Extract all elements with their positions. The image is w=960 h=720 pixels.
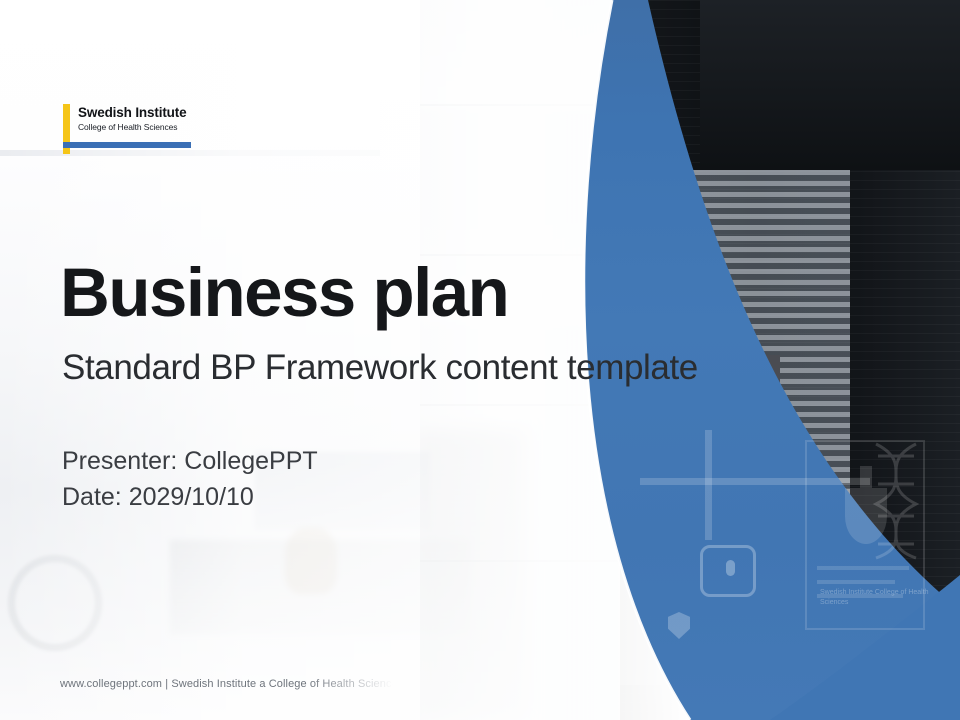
presentation-slide: Admission: [0, 0, 960, 720]
logo-blue-bar-icon: [63, 142, 191, 148]
slide-title: Business plan: [60, 258, 508, 327]
watermark-pill-dot: [726, 560, 735, 576]
slide-subtitle: Standard BP Framework content template: [62, 350, 698, 385]
watermark-line: [817, 580, 895, 584]
logo-institution-name: Swedish Institute: [78, 105, 186, 120]
watermark-line: [817, 566, 909, 570]
presenter-line: Presenter: CollegePPT: [62, 443, 318, 479]
watermark-poster-caption: Swedish Institute College of Health Scie…: [820, 588, 938, 608]
institution-logo: Swedish Institute College of Health Scie…: [63, 104, 195, 154]
logo-institution-subtitle: College of Health Sciences: [78, 122, 177, 132]
watermark-cross-vertical: [705, 430, 712, 540]
slide-meta-block: Presenter: CollegePPT Date: 2029/10/10: [62, 443, 318, 515]
slide-footer: www.collegeppt.com | Swedish Institute a…: [60, 678, 403, 690]
date-line: Date: 2029/10/10: [62, 479, 318, 515]
watermark-dna-icon: [870, 440, 922, 560]
